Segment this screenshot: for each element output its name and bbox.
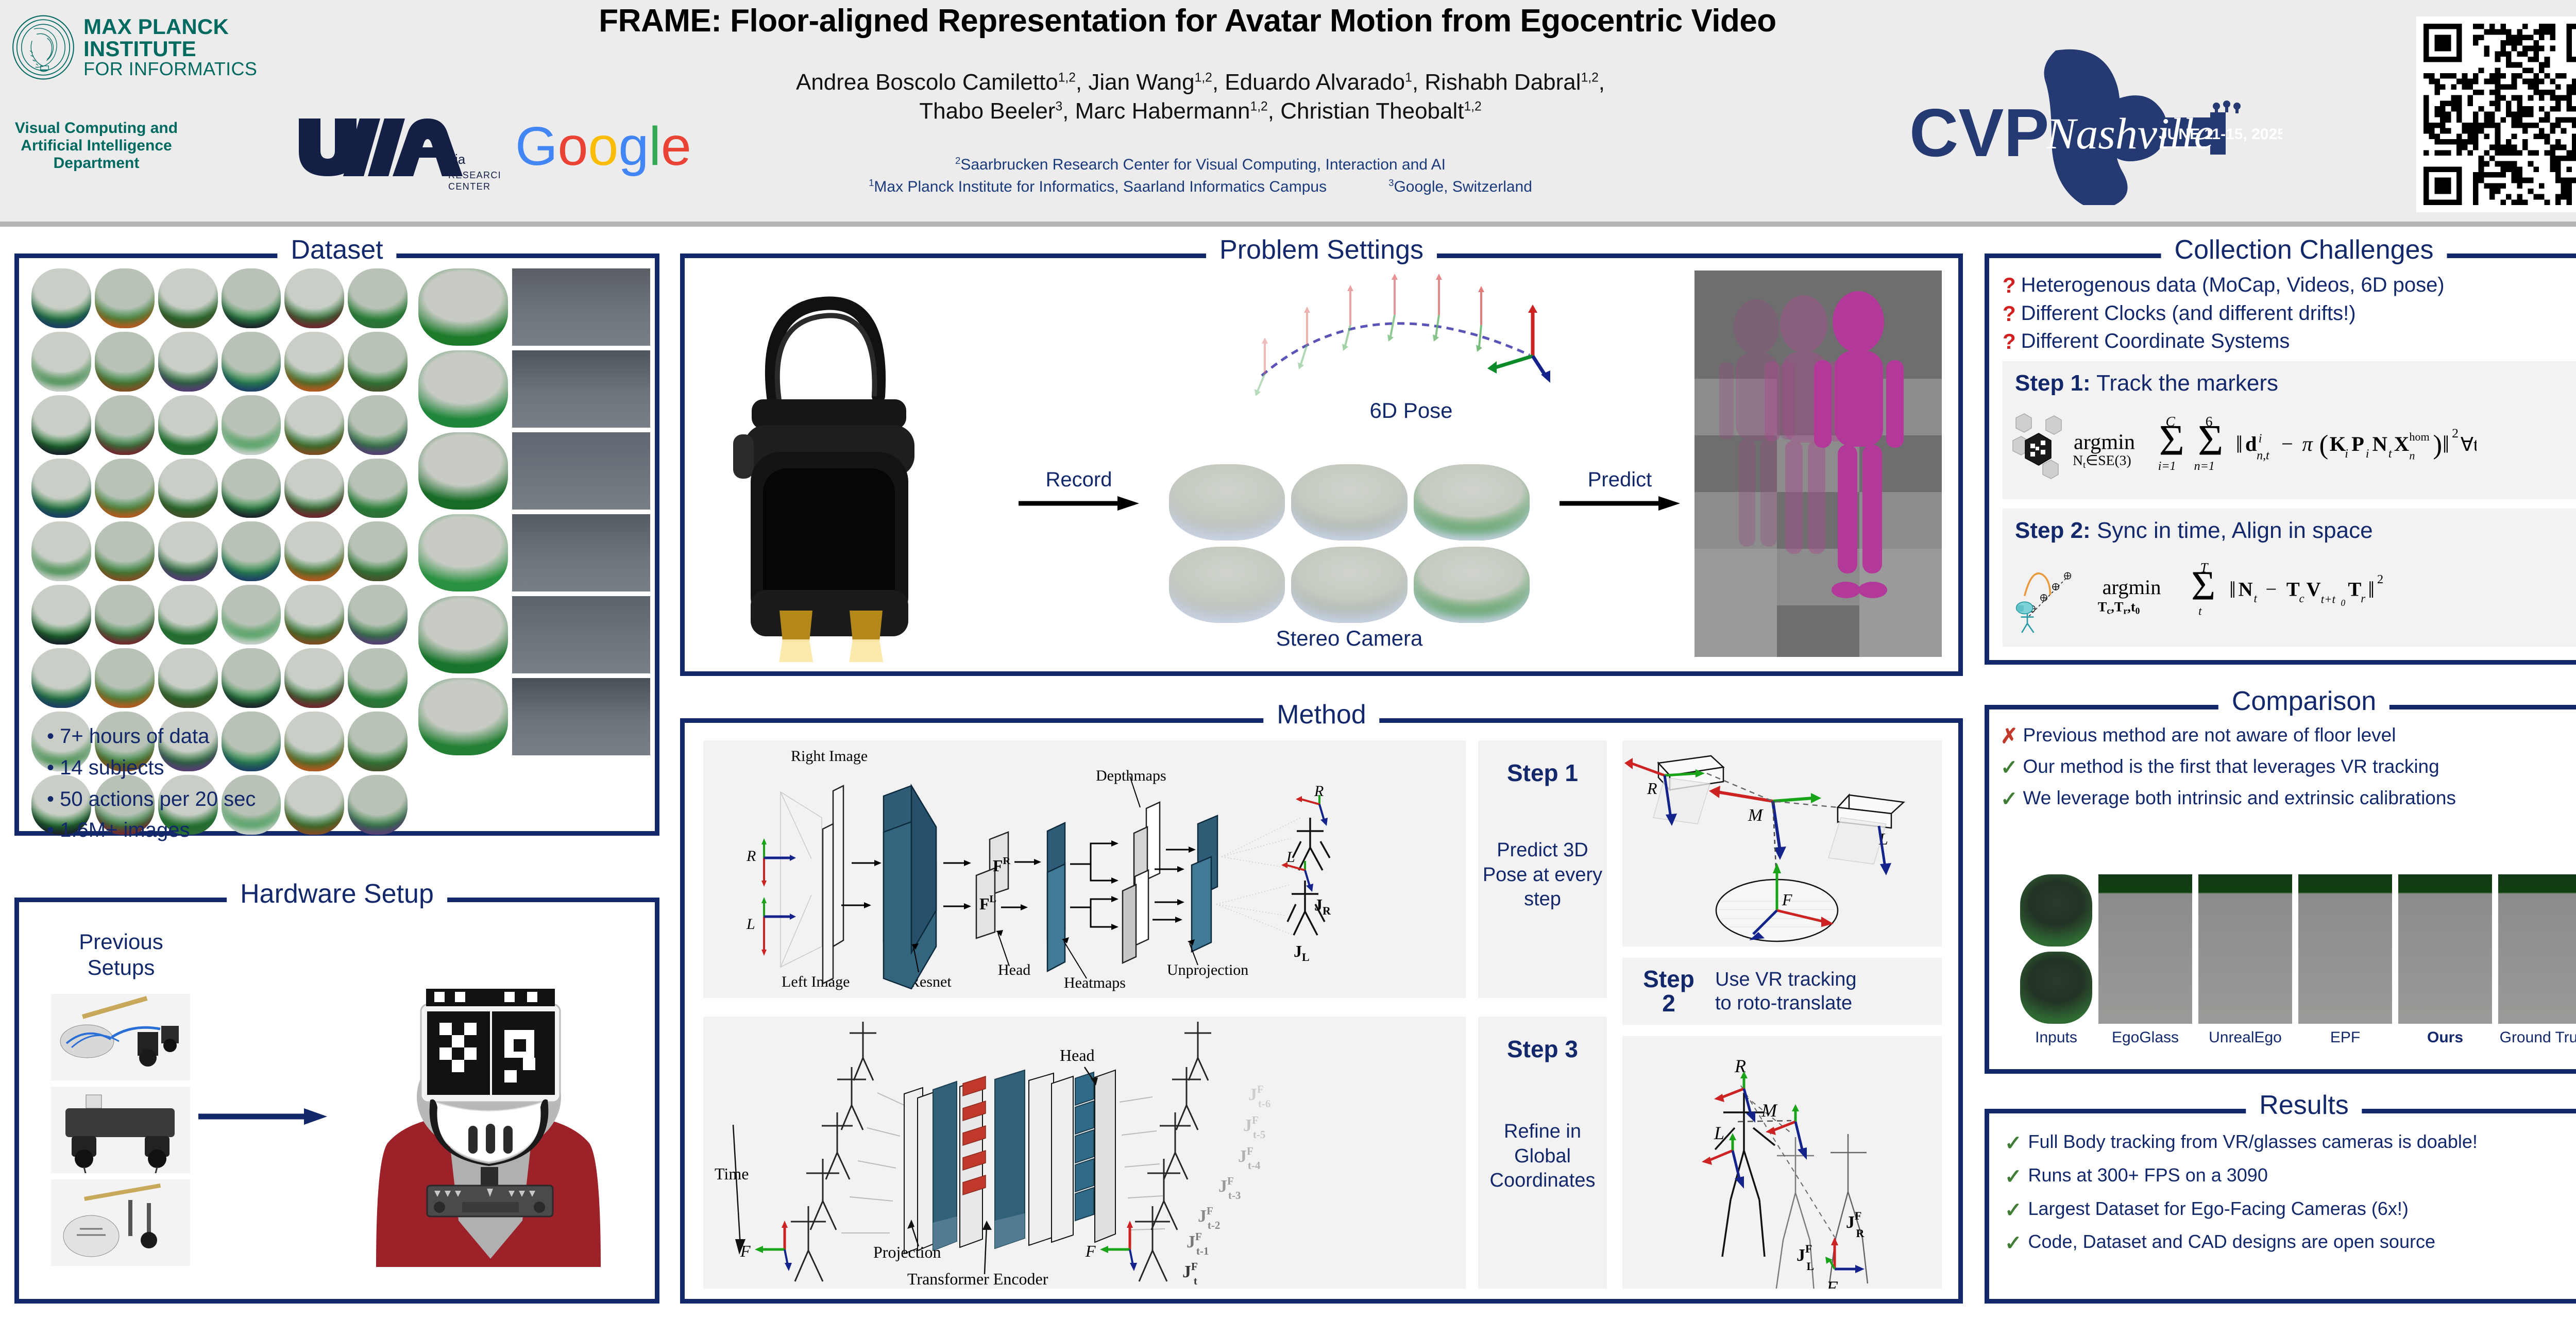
author-5: Thabo Beeler [919, 98, 1055, 124]
dataset-thumbnail [284, 268, 344, 328]
list-item: ?Different Clocks (and different drifts!… [2003, 300, 2576, 328]
dataset-thumbnail [222, 395, 281, 455]
step1-title: Step 1 [1478, 759, 1607, 787]
panel-collection-challenges: Collection Challenges ?Heterogenous data… [1985, 253, 2576, 665]
mocap-markers-icon [2011, 409, 2093, 486]
column-label: Inputs [2020, 1029, 2092, 1046]
step3-global-coords-diagram: R M L JFR JFL F [1622, 1036, 1942, 1289]
question-mark-icon: ? [2003, 272, 2016, 300]
question-mark-icon: ? [2003, 300, 2016, 328]
dataset-thumbnail [95, 395, 155, 455]
stereo-camera-frame [1414, 547, 1530, 623]
dataset-thumbnail [95, 459, 155, 518]
dataset-sample-pair [418, 350, 650, 428]
svg-text:(: ( [2319, 429, 2329, 460]
panel-title-problem: Problem Settings [1206, 236, 1437, 263]
joint-label: JFt-2 [1198, 1205, 1220, 1231]
panel-results: Results ✓Full Body tracking from VR/glas… [1985, 1109, 2576, 1304]
label-left-image: Left Image [782, 973, 850, 990]
comparison-column-image [2098, 874, 2192, 1024]
label-stereo-camera: Stereo Camera [1169, 626, 1530, 651]
svg-text:‖: ‖ [2236, 431, 2243, 459]
check-mark-icon: ✓ [2005, 1160, 2022, 1194]
svg-text:X: X [2394, 432, 2409, 455]
affiliation-list: 2Saarbrucken Research Center for Visual … [608, 155, 1793, 197]
dataset-thumbnail [222, 268, 281, 328]
dataset-thumbnail [284, 775, 344, 835]
check-mark-icon: ✓ [2005, 1127, 2022, 1160]
frame-label-L: L [1714, 1123, 1724, 1143]
input-ego-image [2020, 874, 2092, 946]
dataset-thumbnail [95, 268, 155, 328]
svg-text:i: i [2259, 432, 2262, 445]
dataset-thumbnail [284, 521, 344, 581]
record-arrow-icon [1019, 496, 1140, 511]
svg-text:‖: ‖ [2229, 577, 2236, 603]
dataset-thumbnail [95, 521, 155, 581]
list-item: 7+ hours of data [47, 721, 256, 752]
dataset-thumbnail [95, 585, 155, 645]
dataset-pair-column [418, 268, 650, 755]
step3-title: Step 3 [1478, 1035, 1607, 1063]
qr-canvas [2424, 24, 2576, 205]
svg-text:T: T [2348, 578, 2362, 600]
previous-setup-images [51, 994, 190, 1266]
label-unprojection: Unprojection [1167, 961, 1248, 978]
svg-text:K: K [2330, 432, 2346, 455]
stereo-camera-frame [1414, 464, 1530, 540]
list-item: ?Different Coordinate Systems [2003, 328, 2576, 356]
via-research-center-logo: via RESEARCH CENTER [294, 98, 500, 193]
list-item: ✗Previous method are not aware of floor … [2001, 721, 2576, 752]
list-item: ✓We leverage both intrinsic and extrinsi… [2001, 784, 2576, 815]
frame-label-F: F [1782, 890, 1792, 909]
collection-step2-heading: Step 2: Sync in time, Align in space [2015, 518, 2576, 544]
6d-pose-trajectory-diagram [1241, 267, 1581, 407]
minerva-seal-icon [10, 14, 76, 81]
comparison-bullets: ✗Previous method are not aware of floor … [2001, 721, 2576, 815]
external-view [512, 514, 650, 591]
svg-text:π: π [2302, 432, 2313, 455]
svg-text:via: via [448, 151, 466, 167]
label-j-l: JL [1294, 942, 1310, 963]
x-mark-icon: ✗ [2001, 721, 2018, 752]
label-right-image: Right Image [791, 748, 868, 765]
panel-dataset: Dataset 7+ hours of data 14 subjects 50 … [14, 253, 659, 836]
svg-text:argmin: argmin [2103, 576, 2161, 599]
affiliation-3: Google, Switzerland [1394, 178, 1532, 195]
dataset-thumbnail [222, 459, 281, 518]
svg-text:‖: ‖ [2443, 431, 2449, 459]
label-6d-pose: 6D Pose [1293, 398, 1530, 423]
dataset-thumbnail [348, 459, 408, 518]
svg-text:i: i [2366, 447, 2369, 461]
dataset-thumbnail [31, 268, 91, 328]
svg-text:C: C [2165, 413, 2175, 429]
dataset-thumbnail [31, 585, 91, 645]
svg-text:n: n [2409, 449, 2415, 462]
panel-problem-settings: Problem Settings 6D Pose Record [680, 253, 1963, 676]
transition-arrow-icon [198, 1107, 329, 1126]
affiliation-1: Max Planck Institute for Informatics, Sa… [874, 178, 1327, 195]
helmet-rig-photo-1 [51, 994, 190, 1080]
dataset-sample-pair [418, 678, 650, 755]
label-head: Head [998, 961, 1030, 978]
affiliation-2: Saarbrucken Research Center for Visual C… [960, 156, 1446, 173]
svg-text:i=1: i=1 [2158, 460, 2176, 473]
svg-text:RESEARCH: RESEARCH [448, 170, 500, 180]
list-item: 50 actions per 20 sec [47, 784, 256, 815]
dataset-thumbnail [348, 521, 408, 581]
collection-step1-box: Step 1: Track the markers argmin Nt∈SE(3… [2003, 361, 2576, 499]
input-ego-image [2020, 952, 2092, 1024]
list-item: ✓Largest Dataset for Ego-Facing Cameras … [2005, 1194, 2576, 1227]
svg-text:T: T [2286, 578, 2300, 600]
poster-title: FRAME: Floor-aligned Representation for … [505, 4, 1870, 38]
collection-step2-box: Step 2: Sync in time, Align in space arg… [2003, 509, 2576, 647]
frame-label-R: R [1647, 779, 1657, 798]
svg-text:∀t: ∀t [2461, 434, 2477, 455]
predict-arrow-icon [1560, 496, 1681, 511]
max-planck-logo: MAX PLANCK INSTITUTE FOR INFORMATICS [10, 6, 319, 89]
dataset-thumbnail [31, 521, 91, 581]
label-j-r-frame: JFR [1846, 1209, 1865, 1240]
frame-label-M: M [1748, 806, 1764, 825]
vr-headset-illustration [702, 270, 1011, 662]
label-heatmaps: Heatmaps [1064, 974, 1126, 991]
external-view [512, 596, 650, 673]
label-predict-arrow: Predict [1555, 468, 1684, 492]
dataset-thumbnail [222, 332, 281, 392]
stereo-rig-photo-2 [51, 1087, 190, 1173]
poster-header: MAX PLANCK INSTITUTE FOR INFORMATICS Vis… [0, 0, 2576, 227]
svg-text:F: F [1085, 1242, 1096, 1260]
label-head-step3: Head [1060, 1046, 1095, 1064]
avatar-motion-render [1694, 270, 1942, 657]
list-item: 14 subjects [47, 752, 256, 784]
frame-headset-photo [338, 927, 642, 1277]
column-label: EPF [2298, 1029, 2392, 1046]
svg-text:L: L [746, 916, 755, 933]
dataset-thumbnail [222, 521, 281, 581]
dataset-thumbnail [222, 648, 281, 708]
svg-text:N: N [2372, 432, 2387, 455]
list-item: ✓Runs at 300+ FPS on a 3090 [2005, 1160, 2576, 1194]
panel-title-comparison: Comparison [2218, 688, 2389, 715]
step2-text: Use VR trackingto roto-translate [1715, 968, 1942, 1016]
panel-comparison: Comparison ✗Previous method are not awar… [1985, 705, 2576, 1074]
step2-title: Step2 [1622, 967, 1715, 1016]
dataset-thumbnail [284, 459, 344, 518]
network-pipeline-diagram: Right Image Left Image Resnet Head Heatm… [703, 740, 1466, 998]
comparison-column-labels: Inputs EgoGlass UnrealEgo EPF Ours Groun… [2020, 1029, 2576, 1046]
joint-label: JFt-5 [1243, 1114, 1265, 1141]
svg-text:N: N [2239, 578, 2253, 600]
svg-text:t: t [2388, 447, 2393, 461]
dataset-thumbnail [222, 585, 281, 645]
dataset-thumbnail [31, 648, 91, 708]
svg-text:−: − [2281, 432, 2293, 455]
svg-text:2: 2 [2377, 572, 2383, 586]
dataset-thumbnail [95, 648, 155, 708]
label-j-r: JR [1314, 895, 1331, 917]
qr-code[interactable] [2416, 16, 2576, 212]
comparison-column-image [2198, 874, 2292, 1024]
author-list: Andrea Boscolo Camiletto1,2, Jian Wang1,… [608, 68, 1793, 126]
check-mark-icon: ✓ [2001, 784, 2018, 815]
panel-method: Method Right Image Left Image Resnet Hea… [680, 718, 1963, 1304]
dataset-thumbnail [158, 459, 218, 518]
dataset-thumbnail [284, 395, 344, 455]
dataset-thumbnail [158, 332, 218, 392]
svg-text:P: P [2351, 432, 2364, 455]
egocentric-view [418, 596, 508, 673]
check-mark-icon: ✓ [2001, 752, 2018, 784]
external-view [512, 268, 650, 346]
svg-text:F: F [740, 1242, 751, 1260]
list-item: 1.6M+ images [47, 815, 256, 846]
check-mark-icon: ✓ [2005, 1194, 2022, 1227]
dataset-thumbnail [31, 332, 91, 392]
svg-text:n,t: n,t [2257, 449, 2270, 463]
step2-caption-box: Step2 Use VR trackingto roto-translate [1622, 958, 1942, 1025]
joint-label: JFt-3 [1218, 1175, 1241, 1202]
dataset-thumbnail [348, 648, 408, 708]
panel-title-results: Results [2246, 1092, 2362, 1119]
department-label: Visual Computing andArtificial Intellige… [11, 120, 181, 173]
dataset-thumbnail [348, 585, 408, 645]
svg-text:2: 2 [2452, 426, 2459, 441]
svg-text:CENTER: CENTER [448, 181, 490, 192]
list-item: ?Heterogenous data (MoCap, Videos, 6D po… [2003, 272, 2576, 300]
step2-coordinate-diagram: R L M F [1622, 740, 1942, 946]
list-item: ✓Code, Dataset and CAD designs are open … [2005, 1227, 2576, 1260]
dataset-thumbnail [31, 395, 91, 455]
dataset-thumbnail [348, 268, 408, 328]
column-label: Ground Truth [2498, 1029, 2576, 1046]
dataset-sample-pair [418, 514, 650, 591]
svg-text:Tc,Tr,t0: Tc,Tr,t0 [2098, 599, 2140, 616]
svg-text:n=1: n=1 [2194, 460, 2215, 473]
dataset-thumbnail [158, 585, 218, 645]
dataset-thumbnail [348, 712, 408, 771]
svg-text:R: R [746, 848, 756, 865]
egocentric-view [418, 678, 508, 755]
dataset-sample-pair [418, 432, 650, 510]
svg-text:t: t [2198, 604, 2202, 617]
step1-caption-box: Step 1 Predict 3D Pose at every step [1478, 740, 1607, 998]
collection-step1-heading: Step 1: Track the markers [2015, 370, 2576, 396]
dataset-thumbnail [284, 585, 344, 645]
cvpr-nashville-logo: CVPR Nashville JUNE 11-15, 2025 [1901, 40, 2282, 205]
stereo-camera-frame [1291, 547, 1407, 623]
egocentric-view [418, 514, 508, 591]
svg-text:i: i [2345, 447, 2348, 461]
dataset-thumbnail [284, 712, 344, 771]
column-label: UnrealEgo [2198, 1029, 2292, 1046]
egocentric-view [418, 350, 508, 428]
panel-title-collection: Collection Challenges [2161, 236, 2447, 263]
previous-setups-label: PreviousSetups [49, 929, 193, 980]
svg-text:t+t: t+t [2321, 593, 2336, 606]
joint-label: JFt [1182, 1260, 1198, 1287]
external-view [512, 432, 650, 510]
dataset-thumbnail [348, 332, 408, 392]
dataset-thumbnail [158, 395, 218, 455]
dataset-thumbnail [158, 648, 218, 708]
external-view [512, 678, 650, 755]
stereo-camera-frame [1291, 464, 1407, 540]
label-projection: Projection [873, 1243, 941, 1261]
cvpr-dates: JUNE 11-15, 2025 [2159, 126, 2282, 143]
dataset-sample-pair [418, 268, 650, 346]
panel-title-method: Method [1263, 701, 1379, 728]
list-item: ✓Full Body tracking from VR/glasses came… [2005, 1127, 2576, 1160]
dataset-thumbnail [158, 268, 218, 328]
dataset-thumbnail [348, 775, 408, 835]
panel-hardware-setup: Hardware Setup PreviousSetups [14, 898, 659, 1304]
column-label-ours: Ours [2398, 1029, 2492, 1046]
stereo-camera-images [1169, 464, 1530, 623]
mpi-name-line2: FOR INFORMATICS [83, 60, 319, 79]
comparison-column-image [2298, 874, 2392, 1024]
svg-text:T: T [2200, 560, 2209, 576]
column-label: EgoGlass [2098, 1029, 2192, 1046]
step3-text: Refine in Global Coordinates [1478, 1120, 1607, 1193]
label-record-arrow: Record [1014, 468, 1143, 492]
dataset-stats-list: 7+ hours of data 14 subjects 50 actions … [47, 721, 256, 846]
step1-text: Predict 3D Pose at every step [1478, 838, 1607, 912]
dataset-thumbnail [158, 521, 218, 581]
challenges-list: ?Heterogenous data (MoCap, Videos, 6D po… [2003, 272, 2576, 356]
svg-text:−: − [2265, 578, 2277, 600]
external-view [512, 350, 650, 428]
dataset-thumbnail [31, 459, 91, 518]
comparison-image-strip [2020, 854, 2576, 1024]
joint-label: JFt-1 [1187, 1230, 1209, 1257]
question-mark-icon: ? [2003, 328, 2016, 356]
svg-text:F: F [1826, 1277, 1838, 1289]
frame-label-M: M [1761, 1100, 1778, 1121]
comparison-column-image [2498, 874, 2576, 1024]
joint-label: JFt-6 [1248, 1083, 1270, 1110]
label-time: Time [715, 1164, 749, 1183]
egocentric-view [418, 268, 508, 346]
stereo-camera-frame [1169, 464, 1285, 540]
svg-text:V: V [2307, 578, 2321, 600]
comparison-input-column [2020, 874, 2092, 1024]
label-transformer-encoder: Transformer Encoder [907, 1270, 1048, 1288]
svg-text:‖: ‖ [2368, 577, 2375, 603]
step3-transformer-diagram: Time F [703, 1017, 1466, 1289]
check-mark-icon: ✓ [2005, 1227, 2022, 1260]
author-1: Andrea Boscolo Camiletto [796, 70, 1058, 95]
joint-label: JFt-4 [1238, 1145, 1261, 1172]
results-list: ✓Full Body tracking from VR/glasses came… [2005, 1127, 2576, 1260]
dataset-sample-pair [418, 596, 650, 673]
svg-text:0: 0 [2341, 598, 2345, 608]
helmet-rig-photo-3 [51, 1179, 190, 1266]
svg-text:hom: hom [2409, 430, 2429, 443]
list-item: ✓Our method is the first that leverages … [2001, 752, 2576, 784]
dataset-thumbnail [348, 395, 408, 455]
step3-caption-box: Step 3 Refine in Global Coordinates [1478, 1017, 1607, 1289]
svg-text:t: t [2254, 592, 2258, 605]
svg-text:d: d [2245, 432, 2257, 455]
dataset-thumbnail [95, 332, 155, 392]
svg-text:6: 6 [2206, 413, 2213, 429]
stereo-camera-frame [1169, 547, 1285, 623]
egocentric-view [418, 432, 508, 510]
dataset-thumbnail [284, 332, 344, 392]
dataset-thumbnail [284, 648, 344, 708]
mpi-name-line1: MAX PLANCK INSTITUTE [83, 16, 319, 60]
comparison-column-image [2398, 874, 2492, 1024]
panel-title-dataset: Dataset [277, 236, 396, 263]
svg-text:): ) [2433, 429, 2442, 460]
svg-text:c: c [2299, 592, 2304, 605]
sync-align-icon [2011, 556, 2093, 633]
panel-title-hardware: Hardware Setup [227, 881, 447, 907]
svg-text:r: r [2361, 592, 2365, 605]
